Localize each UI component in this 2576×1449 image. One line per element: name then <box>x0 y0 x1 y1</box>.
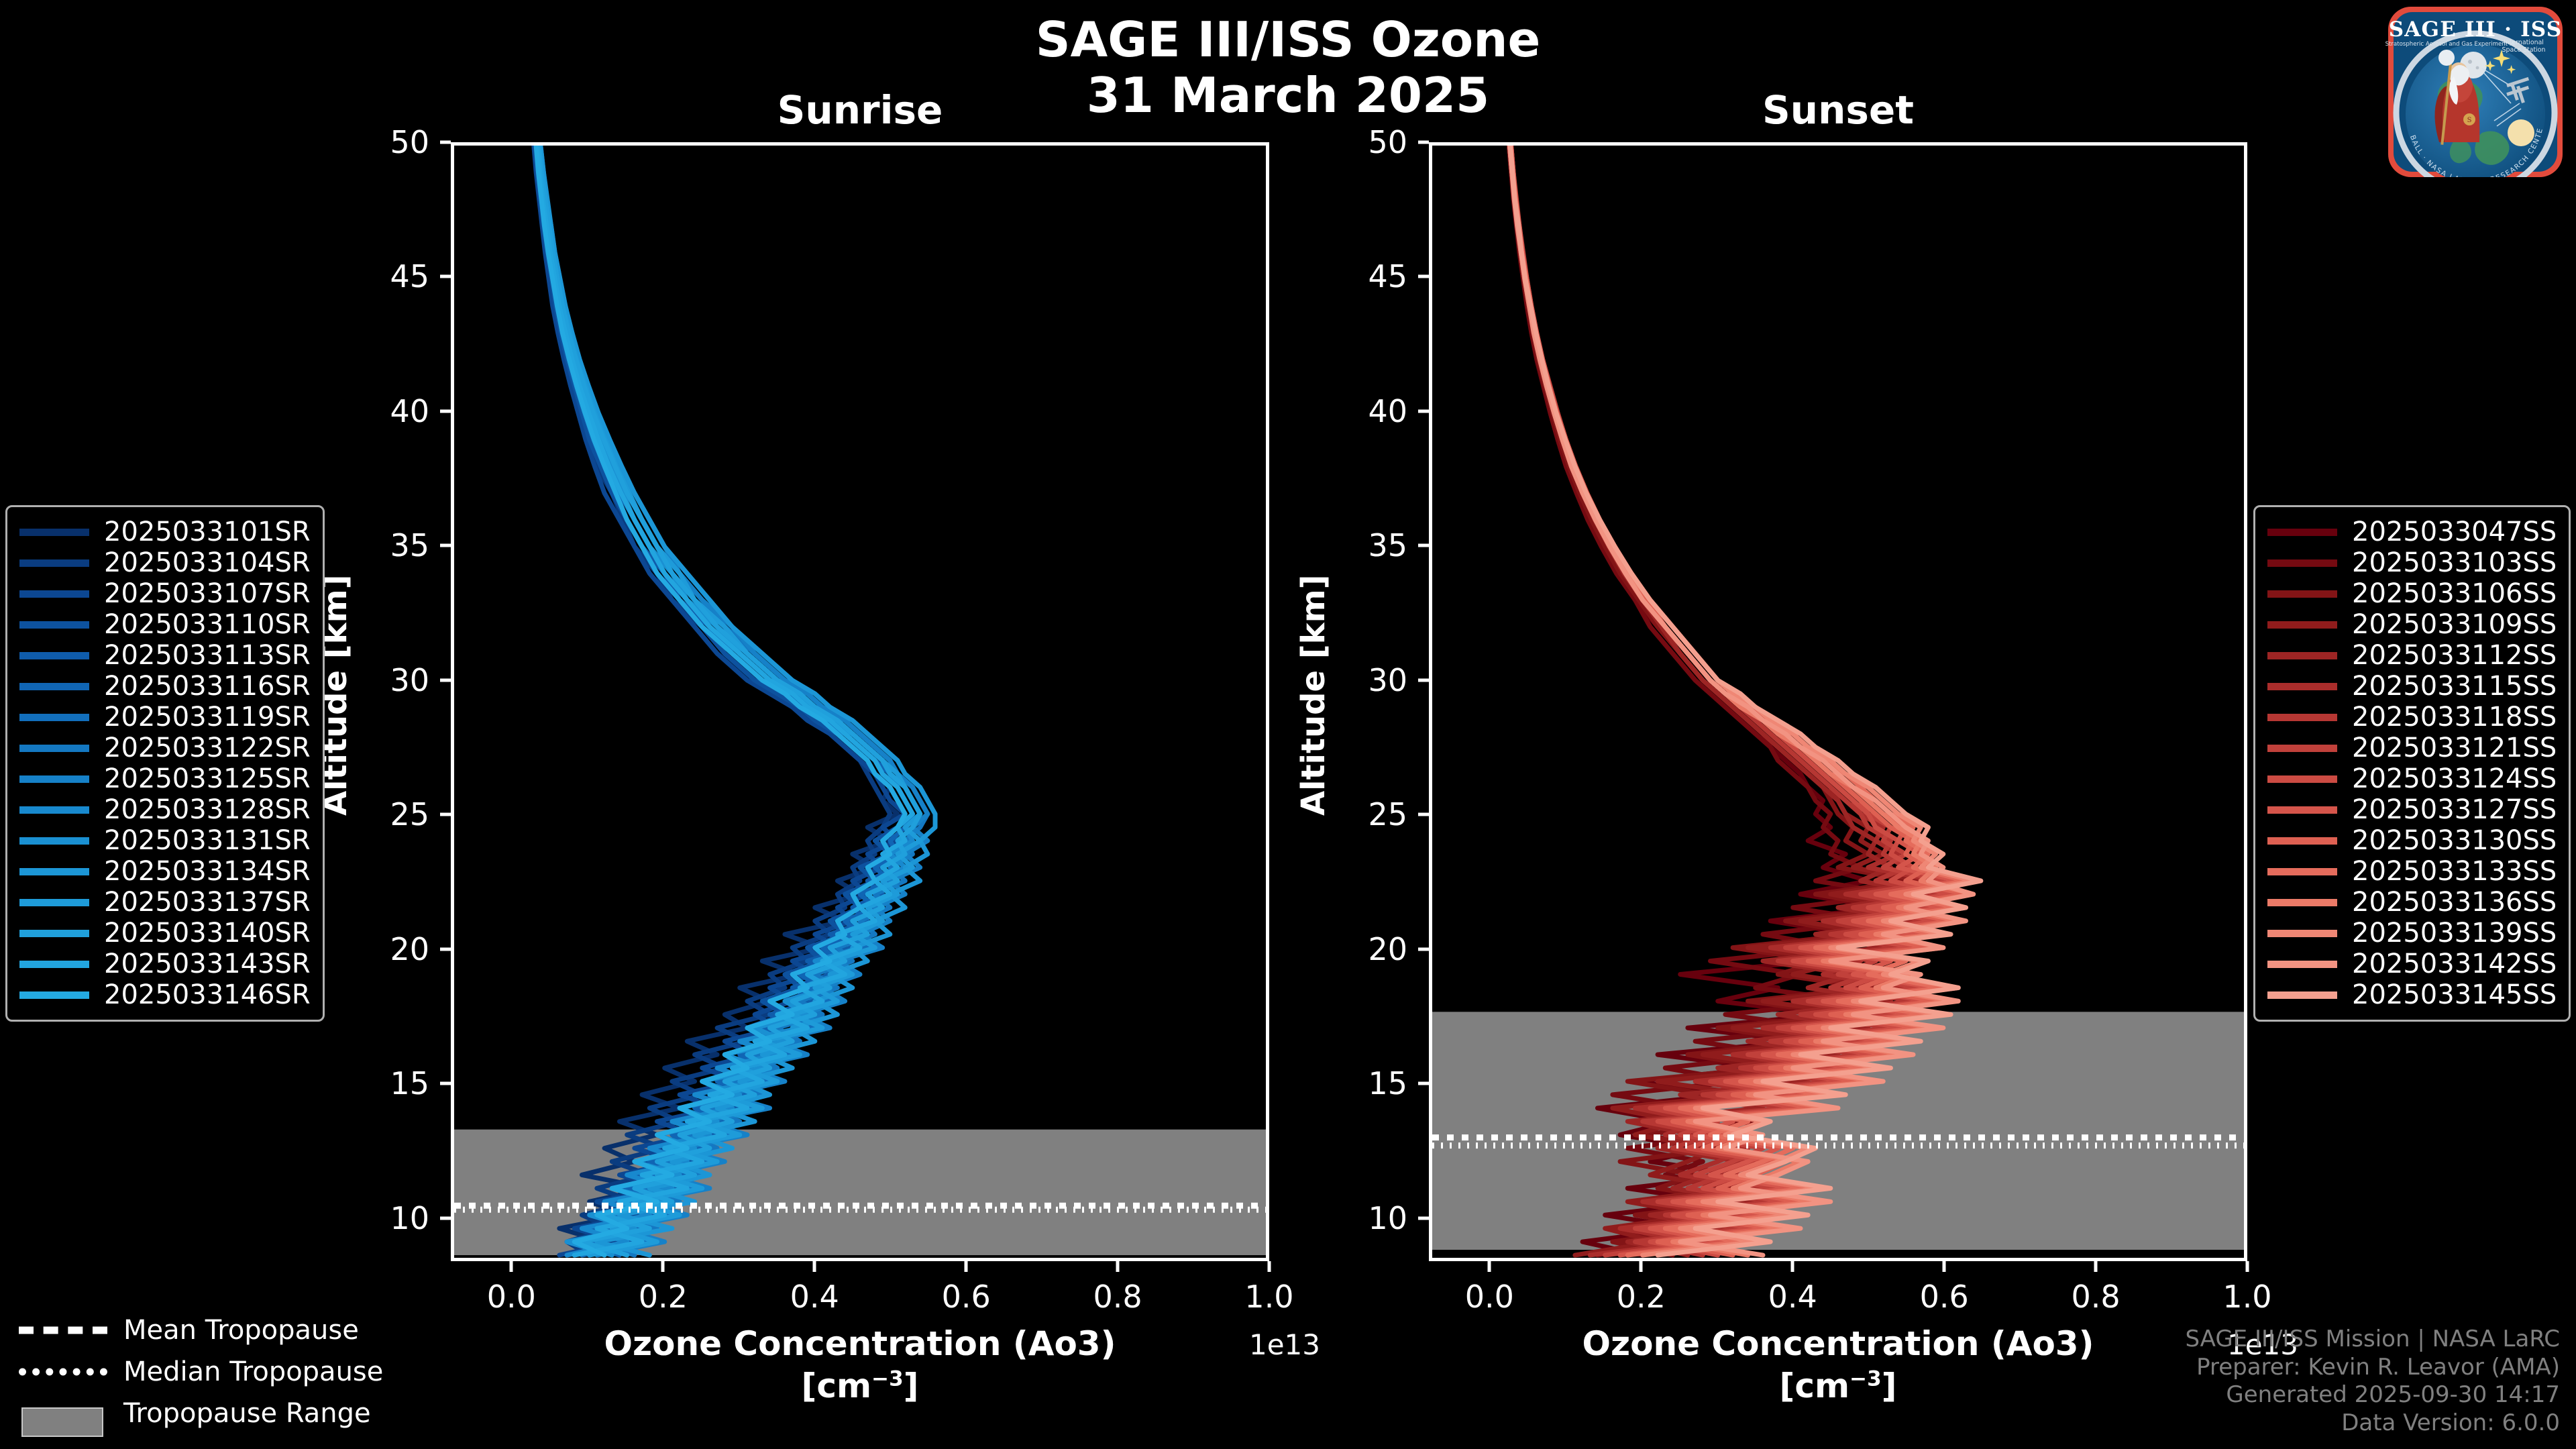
legend-color-line-icon <box>19 991 89 999</box>
legend-color-line-icon <box>19 683 89 690</box>
tropopause-range-band <box>454 1130 1266 1255</box>
x-tick-label-0.2: 0.2 <box>1617 1279 1666 1315</box>
svg-text:International: International <box>2504 39 2544 46</box>
series-line-2025033143SR <box>537 146 912 1255</box>
legend-color-line-icon <box>2267 714 2337 721</box>
y-tick-label-35: 35 <box>350 527 429 563</box>
x-tick-label-0.6: 0.6 <box>1920 1279 1969 1315</box>
x-tick-mark <box>965 1261 968 1272</box>
legend-item-2025033128SR[interactable]: 2025033128SR <box>19 794 311 825</box>
legend-item-2025033131SR[interactable]: 2025033131SR <box>19 825 311 856</box>
legend-label: 2025033106SS <box>2352 578 2557 609</box>
legend-color-line-icon <box>19 652 89 659</box>
data-canvas-sunset <box>1432 146 2244 1258</box>
y-tick-mark <box>1418 813 1429 816</box>
x-tick-mark <box>1268 1261 1271 1272</box>
legend-color-line-icon <box>2267 930 2337 937</box>
plot-area-sunset <box>1429 142 2247 1261</box>
legend-color-line-icon <box>2267 621 2337 629</box>
legend-item-2025033110SR[interactable]: 2025033110SR <box>19 609 311 640</box>
x-tick-mark <box>2094 1261 2098 1272</box>
y-tick-label-20: 20 <box>1328 931 1407 967</box>
x-tick-label-0.6: 0.6 <box>942 1279 991 1315</box>
y-tick-label-20: 20 <box>350 931 429 967</box>
x-tick-label-1.0: 1.0 <box>1244 1279 1293 1315</box>
legend-item-2025033127SS[interactable]: 2025033127SS <box>2267 794 2557 825</box>
x-axis-label-main: Ozone Concentration (Ao3) <box>411 1323 1309 1365</box>
svg-text:S: S <box>2467 117 2472 124</box>
credits-block: SAGE III/ISS Mission | NASA LaRC Prepare… <box>2185 1326 2560 1437</box>
legend-label: 2025033131SR <box>104 825 311 856</box>
legend-color-line-icon <box>2267 652 2337 659</box>
legend-item-2025033140SR[interactable]: 2025033140SR <box>19 918 311 949</box>
legend-label: 2025033145SS <box>2352 979 2557 1010</box>
y-tick-mark <box>440 275 451 278</box>
y-tick-label-25: 25 <box>1328 796 1407 833</box>
legend-color-line-icon <box>2267 775 2337 783</box>
sage-iii-iss-mission-patch-logo: S BALL · NASA LANGLEY RESEARCH CENTER · … <box>2381 1 2569 177</box>
y-axis-label: Altitude [km] <box>1295 574 1332 816</box>
tropopause-key-range: Tropopause Range <box>19 1393 383 1434</box>
y-tick-label-40: 40 <box>1328 393 1407 429</box>
legend-item-2025033115SS[interactable]: 2025033115SS <box>2267 671 2557 702</box>
legend-label: 2025033140SR <box>104 918 311 949</box>
suptitle-line-2: 31 March 2025 <box>0 68 2576 123</box>
y-tick-label-15: 15 <box>1328 1065 1407 1102</box>
legend-label: 2025033124SS <box>2352 763 2557 794</box>
legend-label: 2025033133SS <box>2352 856 2557 887</box>
x-tick-mark <box>1116 1261 1120 1272</box>
legend-color-line-icon <box>2267 590 2337 598</box>
legend-color-line-icon <box>19 745 89 752</box>
logo-subtitle-left: Stratospheric Aerosol and Gas Experiment… <box>2385 41 2515 48</box>
legend-color-line-icon <box>2267 991 2337 999</box>
plot-area-sunrise <box>451 142 1269 1261</box>
legend-label: 2025033110SR <box>104 609 311 640</box>
x-tick-mark <box>1640 1261 1643 1272</box>
legend-color-line-icon <box>19 868 89 875</box>
legend-color-line-icon <box>19 930 89 937</box>
legend-label: 2025033107SR <box>104 578 311 609</box>
x-tick-label-0.4: 0.4 <box>1768 1279 1817 1315</box>
legend-color-line-icon <box>2267 683 2337 690</box>
legend-label: 2025033127SS <box>2352 794 2557 825</box>
tropopause-key-legend: Mean Tropopause Median Tropopause Tropop… <box>19 1309 383 1434</box>
credits-data-version: Data Version: 6.0.0 <box>2185 1409 2560 1437</box>
series-line-2025033146SR <box>536 146 905 1255</box>
x-tick-label-1.0: 1.0 <box>2222 1279 2271 1315</box>
legend-item-2025033118SS[interactable]: 2025033118SS <box>2267 702 2557 733</box>
legend-label: 2025033121SS <box>2352 733 2557 763</box>
legend-label: 2025033101SR <box>104 517 311 547</box>
legend-label: 2025033047SS <box>2352 517 2557 547</box>
y-tick-mark <box>1418 544 1429 547</box>
legend-item-2025033124SS[interactable]: 2025033124SS <box>2267 763 2557 794</box>
suptitle-line-1: SAGE III/ISS Ozone <box>0 12 2576 68</box>
y-tick-label-45: 45 <box>1328 258 1407 294</box>
x-tick-mark <box>813 1261 816 1272</box>
legend-item-2025033134SR[interactable]: 2025033134SR <box>19 856 311 887</box>
y-tick-label-30: 30 <box>350 662 429 698</box>
legend-item-2025033109SS[interactable]: 2025033109SS <box>2267 609 2557 640</box>
credits-generated: Generated 2025-09-30 14:17 <box>2185 1381 2560 1409</box>
y-tick-mark <box>440 1216 451 1220</box>
tropopause-range-label: Tropopause Range <box>123 1398 371 1429</box>
legend-label: 2025033119SR <box>104 702 311 733</box>
data-canvas-sunrise <box>454 146 1266 1258</box>
credits-preparer: Preparer: Kevin R. Leavor (AMA) <box>2185 1354 2560 1381</box>
y-tick-mark <box>440 678 451 682</box>
legend-label: 2025033103SS <box>2352 547 2557 578</box>
y-tick-label-15: 15 <box>350 1065 429 1102</box>
y-tick-label-45: 45 <box>350 258 429 294</box>
y-tick-mark <box>440 544 451 547</box>
x-tick-label-0.4: 0.4 <box>790 1279 839 1315</box>
legend-item-2025033139SS[interactable]: 2025033139SS <box>2267 918 2557 949</box>
legend-color-line-icon <box>19 590 89 598</box>
y-tick-label-40: 40 <box>350 393 429 429</box>
legend-item-2025033104SR[interactable]: 2025033104SR <box>19 547 311 578</box>
legend-item-2025033133SS[interactable]: 2025033133SS <box>2267 856 2557 887</box>
legend-color-line-icon <box>19 714 89 721</box>
y-tick-mark <box>1418 275 1429 278</box>
y-tick-mark <box>440 947 451 951</box>
legend-label: 2025033143SR <box>104 949 311 979</box>
x-axis-label-units: [cm−3] <box>1389 1365 2288 1407</box>
legend-item-2025033137SR[interactable]: 2025033137SR <box>19 887 311 918</box>
legend-label: 2025033134SR <box>104 856 311 887</box>
legend-color-line-icon <box>2267 868 2337 875</box>
legend-color-line-icon <box>2267 529 2337 536</box>
y-tick-mark <box>1418 678 1429 682</box>
legend-sunset: 2025033047SS2025033103SS2025033106SS2025… <box>2253 505 2571 1022</box>
legend-color-line-icon <box>2267 899 2337 906</box>
legend-color-line-icon <box>19 899 89 906</box>
x-tick-mark <box>1943 1261 1946 1272</box>
mean-tropopause-label: Mean Tropopause <box>123 1315 359 1346</box>
median-tropopause-line-icon <box>19 1364 107 1379</box>
subplot-title-sunrise: Sunrise <box>659 87 1061 133</box>
legend-color-line-icon <box>2267 559 2337 567</box>
x-tick-label-0.0: 0.0 <box>487 1279 536 1315</box>
x-tick-mark <box>510 1261 513 1272</box>
legend-color-line-icon <box>19 559 89 567</box>
legend-label: 2025033109SS <box>2352 609 2557 640</box>
y-tick-label-10: 10 <box>1328 1200 1407 1236</box>
y-tick-mark <box>1418 409 1429 413</box>
legend-label: 2025033115SS <box>2352 671 2557 702</box>
legend-label: 2025033136SS <box>2352 887 2557 918</box>
legend-item-2025033142SS[interactable]: 2025033142SS <box>2267 949 2557 979</box>
legend-item-2025033136SS[interactable]: 2025033136SS <box>2267 887 2557 918</box>
x-tick-label-0.8: 0.8 <box>1093 1279 1142 1315</box>
legend-label: 2025033104SR <box>104 547 311 578</box>
x-tick-label-0.0: 0.0 <box>1465 1279 1514 1315</box>
y-tick-label-30: 30 <box>1328 662 1407 698</box>
legend-label: 2025033112SS <box>2352 640 2557 671</box>
tropopause-key-median: Median Tropopause <box>19 1351 383 1393</box>
legend-label: 2025033113SR <box>104 640 311 671</box>
legend-label: 2025033146SR <box>104 979 311 1010</box>
x-tick-label-0.8: 0.8 <box>2071 1279 2120 1315</box>
legend-color-line-icon <box>19 806 89 814</box>
x-tick-mark <box>2246 1261 2249 1272</box>
y-tick-label-50: 50 <box>350 124 429 160</box>
y-tick-mark <box>1418 947 1429 951</box>
legend-label: 2025033139SS <box>2352 918 2557 949</box>
x-tick-mark <box>1791 1261 1794 1272</box>
legend-label: 2025033128SR <box>104 794 311 825</box>
y-tick-label-10: 10 <box>350 1200 429 1236</box>
legend-color-line-icon <box>2267 745 2337 752</box>
legend-label: 2025033116SR <box>104 671 311 702</box>
legend-item-2025033146SR[interactable]: 2025033146SR <box>19 979 311 1010</box>
y-tick-mark <box>1418 1082 1429 1085</box>
legend-item-2025033047SS[interactable]: 2025033047SS <box>2267 517 2557 547</box>
tropopause-key-mean: Mean Tropopause <box>19 1309 383 1351</box>
y-tick-mark <box>1418 141 1429 144</box>
legend-label: 2025033118SS <box>2352 702 2557 733</box>
mean-tropopause-line-icon <box>19 1323 107 1338</box>
legend-item-2025033125SR[interactable]: 2025033125SR <box>19 763 311 794</box>
legend-item-2025033103SS[interactable]: 2025033103SS <box>2267 547 2557 578</box>
y-tick-label-35: 35 <box>1328 527 1407 563</box>
legend-item-2025033107SR[interactable]: 2025033107SR <box>19 578 311 609</box>
y-tick-label-50: 50 <box>1328 124 1407 160</box>
legend-color-line-icon <box>19 961 89 968</box>
legend-label: 2025033125SR <box>104 763 311 794</box>
legend-sunrise: 2025033101SR2025033104SR2025033107SR2025… <box>5 505 325 1022</box>
legend-color-line-icon <box>19 621 89 629</box>
legend-color-line-icon <box>2267 961 2337 968</box>
y-tick-mark <box>440 141 451 144</box>
legend-item-2025033145SS[interactable]: 2025033145SS <box>2267 979 2557 1010</box>
median-tropopause-label: Median Tropopause <box>123 1356 383 1387</box>
y-tick-mark <box>440 1082 451 1085</box>
tropopause-range-patch-icon <box>19 1406 107 1421</box>
legend-item-2025033130SS[interactable]: 2025033130SS <box>2267 825 2557 856</box>
legend-label: 2025033122SR <box>104 733 311 763</box>
legend-item-2025033106SS[interactable]: 2025033106SS <box>2267 578 2557 609</box>
y-tick-mark <box>440 409 451 413</box>
legend-item-2025033116SR[interactable]: 2025033116SR <box>19 671 311 702</box>
legend-color-line-icon <box>19 837 89 845</box>
legend-item-2025033101SR[interactable]: 2025033101SR <box>19 517 311 547</box>
legend-item-2025033113SR[interactable]: 2025033113SR <box>19 640 311 671</box>
figure-suptitle: SAGE III/ISS Ozone 31 March 2025 <box>0 12 2576 123</box>
legend-item-2025033121SS[interactable]: 2025033121SS <box>2267 733 2557 763</box>
legend-label: 2025033142SS <box>2352 949 2557 979</box>
x-axis-label-units: [cm−3] <box>411 1365 1309 1407</box>
x-tick-mark <box>661 1261 665 1272</box>
y-tick-label-25: 25 <box>350 796 429 833</box>
legend-color-line-icon <box>19 529 89 536</box>
x-tick-label-0.2: 0.2 <box>639 1279 688 1315</box>
legend-color-line-icon <box>2267 837 2337 845</box>
legend-label: 2025033137SR <box>104 887 311 918</box>
y-tick-mark <box>1418 1216 1429 1220</box>
y-tick-mark <box>440 813 451 816</box>
legend-item-2025033122SR[interactable]: 2025033122SR <box>19 733 311 763</box>
logo-title: SAGE III · ISS <box>2389 17 2563 42</box>
legend-item-2025033112SS[interactable]: 2025033112SS <box>2267 640 2557 671</box>
legend-item-2025033119SR[interactable]: 2025033119SR <box>19 702 311 733</box>
credits-mission: SAGE III/ISS Mission | NASA LaRC <box>2185 1326 2560 1353</box>
legend-color-line-icon <box>2267 806 2337 814</box>
x-tick-mark <box>1488 1261 1491 1272</box>
legend-item-2025033143SR[interactable]: 2025033143SR <box>19 949 311 979</box>
svg-text:Space Station: Space Station <box>2502 46 2546 54</box>
x-axis-label-main: Ozone Concentration (Ao3) <box>1389 1323 2288 1365</box>
legend-label: 2025033130SS <box>2352 825 2557 856</box>
legend-color-line-icon <box>19 775 89 783</box>
subplot-title-sunset: Sunset <box>1637 87 2039 133</box>
